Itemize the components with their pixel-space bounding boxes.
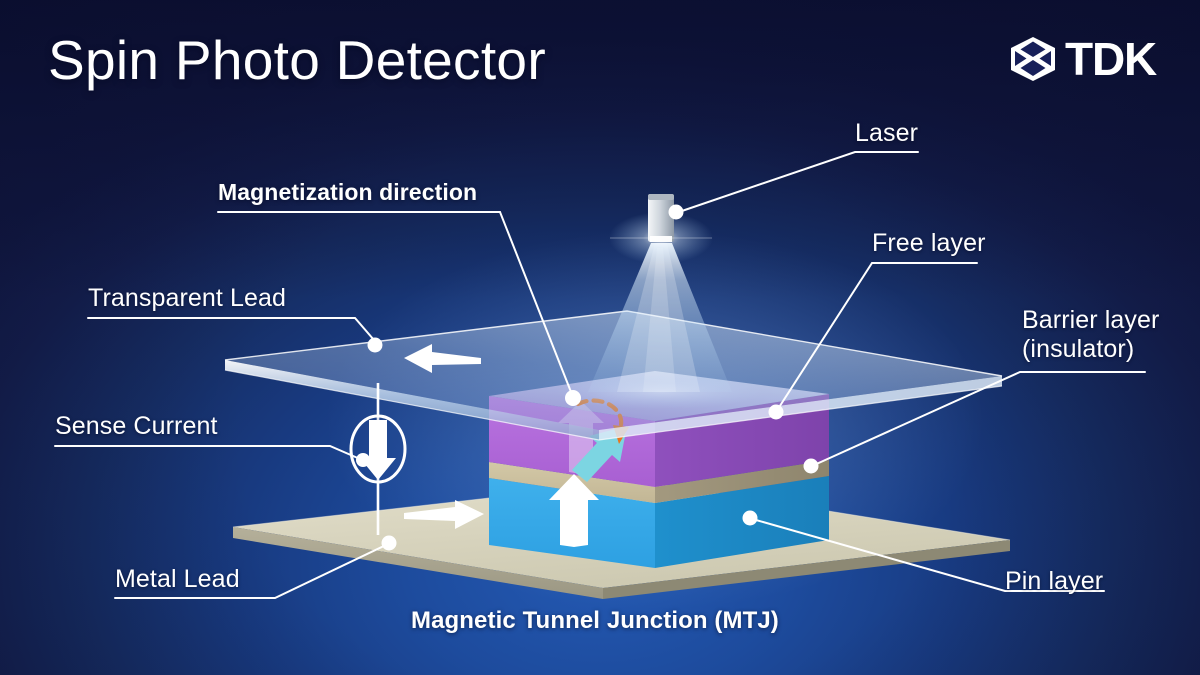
label-barrier-layer-line1: Barrier layer [1022, 305, 1159, 336]
label-free-layer: Free layer [872, 228, 986, 259]
label-laser: Laser [855, 118, 918, 149]
dot-pin-layer [743, 511, 758, 526]
label-sense-current: Sense Current [55, 411, 218, 442]
dot-metal-lead [382, 536, 397, 551]
laser-emitter[interactable] [609, 194, 713, 264]
label-pin-layer: Pin layer [1005, 566, 1103, 597]
leader-sense-current [55, 446, 360, 459]
leader-laser [676, 152, 918, 213]
diagram-canvas: Spin Photo Detector TDK Magnetization di… [0, 0, 1200, 675]
dot-sense-current [356, 453, 370, 467]
leader-transparent-lead [88, 318, 380, 347]
label-transparent-lead: Transparent Lead [88, 283, 286, 314]
label-metal-lead: Metal Lead [115, 564, 240, 595]
caption-mtj: Magnetic Tunnel Junction (MTJ) [411, 606, 779, 635]
tdk-logo[interactable]: TDK [1008, 36, 1156, 82]
tdk-wordmark: TDK [1065, 36, 1156, 82]
dot-magnetization-direction [565, 390, 581, 406]
label-magnetization-direction: Magnetization direction [218, 178, 477, 207]
tdk-polyhedron-icon [1008, 36, 1058, 82]
dot-transparent-lead [368, 338, 383, 353]
dot-laser [669, 205, 684, 220]
dot-barrier-layer [804, 459, 819, 474]
label-barrier-layer-line2: (insulator) [1022, 334, 1134, 365]
dot-free-layer [769, 405, 784, 420]
page-title: Spin Photo Detector [48, 28, 546, 92]
